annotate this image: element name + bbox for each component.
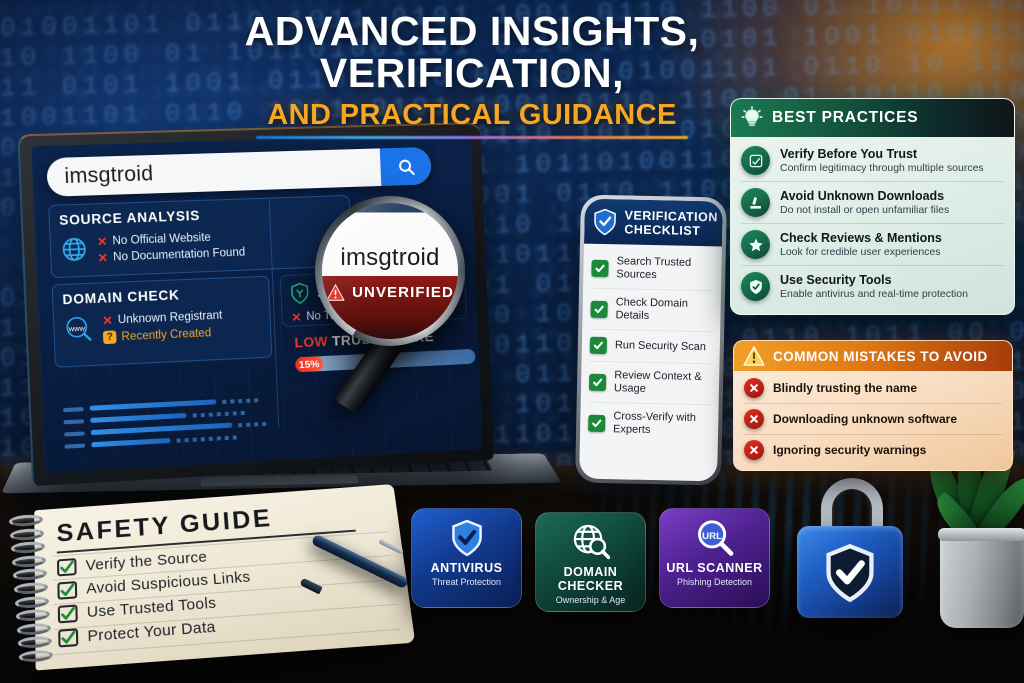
www-search-icon: www <box>63 314 96 344</box>
phone-mockup: VERIFICATION CHECKLIST Search Trusted So… <box>578 196 724 484</box>
checkbox-checked-icon[interactable] <box>591 259 608 276</box>
title-line-1: ADVANCED INSIGHTS, <box>232 10 712 52</box>
x-mark-icon: ✕ <box>97 252 108 265</box>
svg-text:URL: URL <box>702 531 722 542</box>
title-underline <box>256 136 688 139</box>
tool-card-url-scanner[interactable]: URL URL SCANNER Phishing Detection <box>659 508 770 608</box>
plant-pot <box>940 528 1024 628</box>
spiral-ring <box>10 527 45 540</box>
best-practice-heading: Verify Before You Trust <box>780 147 984 162</box>
tool-card-sub: Threat Protection <box>432 577 501 588</box>
tool-card-sub: Ownership & Age <box>556 595 626 606</box>
best-practice-heading: Use Security Tools <box>780 273 968 288</box>
common-mistakes-panel: COMMON MISTAKES TO AVOID Blindly trustin… <box>733 340 1013 471</box>
safety-guide-item-label: Use Trusted Tools <box>87 594 217 621</box>
checklist-item[interactable]: Run Security Scan <box>590 330 713 365</box>
spiral-ring <box>13 568 48 581</box>
common-mistakes-title: COMMON MISTAKES TO AVOID <box>773 349 988 364</box>
domain-check-item-label: Unknown Registrant <box>118 310 223 327</box>
checklist-item[interactable]: Check Domain Details <box>590 289 713 333</box>
tool-card-name: ANTIVIRUS <box>431 561 503 575</box>
phone-screen: VERIFICATION CHECKLIST Search Trusted So… <box>579 199 723 482</box>
spiral-ring <box>12 554 47 567</box>
best-practice-item[interactable]: Check Reviews & MentionsLook for credibl… <box>741 224 1004 266</box>
x-mark-icon: ✕ <box>291 311 301 323</box>
infographic-canvas: 01001101 0110 1011 0101 1001 0110 1100 0… <box>0 0 1024 683</box>
lightbulb-icon <box>741 106 763 130</box>
source-analysis-item-label: No Documentation Found <box>113 247 246 264</box>
spiral-ring <box>9 514 44 527</box>
best-practices-panel: BEST PRACTICES Verify Before You TrustCo… <box>730 98 1015 315</box>
phone-frame: VERIFICATION CHECKLIST Search Trusted So… <box>575 195 727 486</box>
checkbox-checked-icon <box>58 604 78 623</box>
tool-cards: ANTIVIRUS Threat Protection DOMAIN CHECK… <box>411 508 771 616</box>
verification-checklist-header: VERIFICATION CHECKLIST <box>584 199 723 247</box>
domain-check-item: ? Recently Created <box>103 326 223 344</box>
checklist-item-label: Check Domain Details <box>615 296 713 324</box>
best-practice-subtext: Look for credible user experiences <box>780 246 942 259</box>
lens-glare <box>322 203 458 339</box>
tool-card-sub: Phishing Detection <box>677 577 752 588</box>
pen-tip <box>299 578 322 595</box>
shield-check-icon <box>448 519 486 557</box>
checklist-item[interactable]: Review Context & Usage <box>589 362 712 406</box>
best-practice-item[interactable]: Avoid Unknown DownloadsDo not install or… <box>741 182 1004 224</box>
search-button[interactable] <box>380 147 432 186</box>
checkbox-checked-icon <box>57 558 77 576</box>
checklist-item-label: Cross-Verify with Experts <box>613 410 711 438</box>
checklist-item-label: Run Security Scan <box>615 339 706 354</box>
common-mistake-label: Ignoring security warnings <box>773 443 926 457</box>
checkbox-checked-icon[interactable] <box>589 373 606 390</box>
checkbox-checked-icon[interactable] <box>590 300 607 317</box>
best-practice-text: Avoid Unknown DownloadsDo not install or… <box>780 189 949 217</box>
shield-check-icon <box>741 272 770 301</box>
tool-card-name-line-1: DOMAIN <box>564 565 618 579</box>
magnifier-ring: imsgtroid UNVERIFIED <box>315 196 465 346</box>
svg-text:www: www <box>68 323 86 333</box>
best-practice-subtext: Enable antivirus and real-time protectio… <box>780 288 968 301</box>
laptop-trackpad[interactable] <box>201 475 359 486</box>
pen-clip <box>378 539 404 555</box>
domain-check-item-label: Recently Created <box>121 327 211 343</box>
checkbox-checked-icon[interactable] <box>590 337 607 354</box>
best-practice-heading: Check Reviews & Mentions <box>780 231 942 246</box>
star-icon <box>741 230 770 259</box>
tool-card-antivirus[interactable]: ANTIVIRUS Threat Protection <box>411 508 522 608</box>
tool-card-name-line-2: CHECKER <box>558 579 623 593</box>
best-practices-header: BEST PRACTICES <box>731 99 1014 137</box>
common-mistake-item: Downloading unknown software <box>744 404 1002 435</box>
title-line-3: AND PRACTICAL GUIDANCE <box>232 97 712 133</box>
common-mistakes-list: Blindly trusting the nameDownloading unk… <box>734 371 1012 470</box>
verification-checklist-items: Search Trusted SourcesCheck Domain Detai… <box>580 244 722 446</box>
best-practice-item[interactable]: Verify Before You TrustConfirm legitimac… <box>741 140 1004 182</box>
best-practice-subtext: Do not install or open unfamiliar files <box>780 204 949 217</box>
spiral-ring <box>19 649 54 662</box>
checklist-item-label: Review Context & Usage <box>614 369 712 397</box>
spiral-ring <box>16 609 51 622</box>
common-mistake-label: Blindly trusting the name <box>773 381 917 395</box>
download-block-icon <box>741 188 770 217</box>
x-circle-icon <box>744 409 764 429</box>
tool-card-domain-checker[interactable]: DOMAIN CHECKER Ownership & Age <box>535 512 646 612</box>
x-circle-icon <box>744 440 764 460</box>
checklist-item[interactable]: Search Trusted Sources <box>591 248 714 292</box>
magnifying-glass: imsgtroid UNVERIFIED <box>305 188 495 378</box>
best-practice-subtext: Confirm legitimacy through multiple sour… <box>780 162 984 175</box>
title-line-2: VERIFICATION, <box>232 52 712 94</box>
best-practice-text: Check Reviews & MentionsLook for credibl… <box>780 231 942 259</box>
checkbox-checked-icon[interactable] <box>588 414 605 431</box>
shield-check-icon <box>592 208 618 237</box>
checkbox-checked-icon <box>58 628 78 647</box>
common-mistake-item: Blindly trusting the name <box>744 373 1002 404</box>
best-practices-list: Verify Before You TrustConfirm legitimac… <box>731 137 1014 314</box>
domain-check-item: ✕ Unknown Registrant <box>102 310 222 327</box>
search-input[interactable]: imsgtroid <box>46 155 381 189</box>
checkbox-checked-icon <box>57 581 77 600</box>
plant-pot-rim <box>938 528 1024 541</box>
pen-body <box>311 534 409 589</box>
checklist-item[interactable]: Cross-Verify with Experts <box>588 403 711 446</box>
tool-card-icon-wrap <box>572 521 610 563</box>
magnifier-lens: imsgtroid UNVERIFIED <box>322 203 458 339</box>
url-magnifier-icon: URL <box>696 519 734 557</box>
globe-icon <box>60 235 89 263</box>
x-mark-icon: ✕ <box>102 314 113 327</box>
domain-check-panel: DOMAIN CHECK www ✕ Unknown Registrant <box>52 276 273 368</box>
padlock-shield-icon <box>823 543 877 603</box>
source-analysis-item-label: No Official Website <box>112 232 211 248</box>
question-mark-icon: ? <box>103 330 117 344</box>
checklist-item-label: Search Trusted Sources <box>616 255 714 283</box>
x-mark-icon: ✕ <box>97 235 108 248</box>
best-practice-heading: Avoid Unknown Downloads <box>780 189 949 204</box>
verify-badge-icon <box>741 146 770 175</box>
phone-title-line-2: CHECKLIST <box>624 222 718 238</box>
source-analysis-item: ✕ No Documentation Found <box>97 247 245 265</box>
padlock <box>795 478 913 618</box>
padlock-body <box>797 526 903 618</box>
tool-card-icon-wrap <box>448 517 486 559</box>
x-circle-icon <box>744 378 764 398</box>
best-practices-title: BEST PRACTICES <box>772 109 918 127</box>
spiral-ring <box>14 582 49 595</box>
page-title: ADVANCED INSIGHTS, VERIFICATION, AND PRA… <box>232 10 712 139</box>
domain-check-title: DOMAIN CHECK <box>62 284 260 307</box>
common-mistake-label: Downloading unknown software <box>773 412 957 426</box>
search-icon <box>396 157 415 176</box>
source-analysis-item: ✕ No Official Website <box>97 231 245 248</box>
best-practice-item[interactable]: Use Security ToolsEnable antivirus and r… <box>741 266 1004 307</box>
globe-search-icon <box>572 523 610 561</box>
tool-card-icon-wrap: URL <box>696 517 734 559</box>
spiral-ring <box>15 595 50 608</box>
common-mistake-item: Ignoring security warnings <box>744 435 1002 465</box>
spiral-ring <box>18 636 53 649</box>
pen <box>300 526 416 612</box>
spiral-ring <box>17 622 52 635</box>
best-practice-text: Verify Before You TrustConfirm legitimac… <box>780 147 984 175</box>
best-practice-text: Use Security ToolsEnable antivirus and r… <box>780 273 968 301</box>
spiral-ring <box>11 541 46 554</box>
common-mistakes-header: COMMON MISTAKES TO AVOID <box>734 341 1012 371</box>
tool-card-name: URL SCANNER <box>666 561 762 575</box>
warning-triangle-icon <box>743 346 765 366</box>
